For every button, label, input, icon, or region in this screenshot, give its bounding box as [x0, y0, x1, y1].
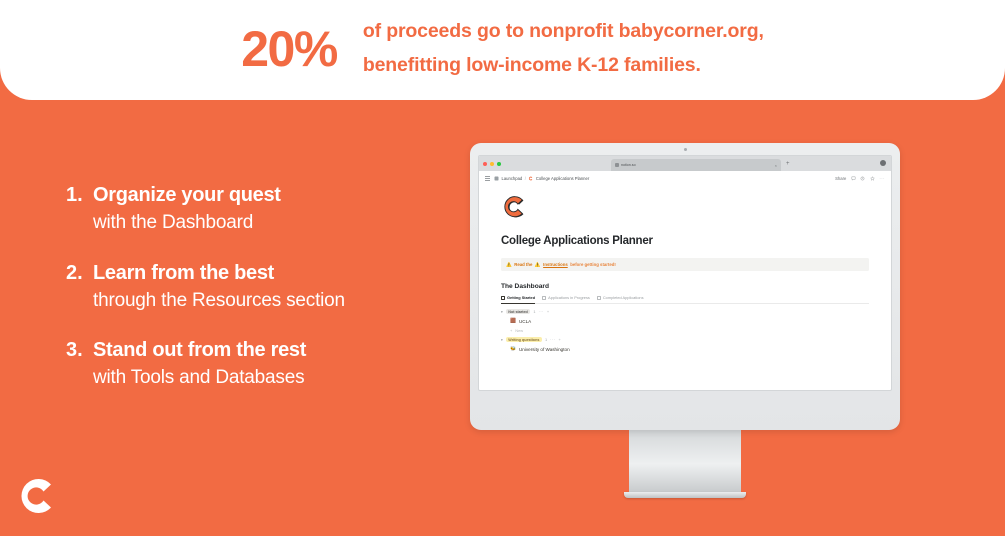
board-group-header[interactable]: ▾ Writing questions 1 ··· + [501, 337, 869, 342]
new-row-label: New [515, 328, 523, 333]
tab-label: Completed Applications [603, 295, 644, 300]
tab-applications-in-progress[interactable]: Applications in Progress [542, 295, 590, 300]
row-emoji-icon: 🐝 [510, 347, 516, 352]
crimson-c-logo-icon [13, 474, 57, 518]
list-item-subtitle: with Tools and Databases [93, 365, 306, 391]
browser-tab-bar: notion.so × + [479, 156, 891, 171]
tab-favicon-icon [615, 163, 619, 167]
board-group-header[interactable]: ▾ Not started 1 ··· + [501, 309, 869, 314]
list-item-subtitle: with the Dashboard [93, 210, 281, 236]
feature-list: 1. Organize your quest with the Dashboar… [66, 182, 456, 415]
page-cover-c-logo-icon [501, 194, 527, 220]
monitor-stand [629, 430, 741, 492]
group-count: 1 [545, 337, 547, 342]
monitor-frame: notion.so × + Launchpad / College Applic… [470, 143, 900, 430]
plus-icon: + [510, 328, 512, 333]
webcam-icon [684, 148, 687, 151]
imac-mockup: notion.so × + Launchpad / College Applic… [470, 143, 900, 498]
notion-topbar-actions: Share ··· [835, 176, 885, 181]
promo-banner-content: 20% of proceeds go to nonprofit babycorn… [241, 0, 763, 83]
list-item: 1. Organize your quest with the Dashboar… [66, 182, 456, 236]
page-c-icon [528, 176, 533, 181]
list-item: 2. Learn from the best through the Resou… [66, 260, 456, 314]
table-view-icon [542, 296, 546, 300]
group-status-badge: Not started [506, 309, 531, 314]
breadcrumb: Launchpad / College Applications Planner [494, 176, 589, 181]
list-item-title: Learn from the best [93, 260, 345, 287]
browser-tab[interactable]: notion.so × [611, 159, 781, 171]
close-window-icon[interactable] [483, 162, 487, 166]
new-tab-button[interactable]: + [786, 161, 790, 167]
breadcrumb-separator: / [525, 176, 526, 181]
group-more-icon[interactable]: ··· [539, 309, 544, 314]
list-item-number: 3. [66, 337, 93, 391]
tab-title: notion.so [621, 163, 636, 167]
section-title: The Dashboard [501, 283, 869, 290]
warning-icon: ⚠️ [506, 262, 512, 268]
notion-page: College Applications Planner ⚠️ Read the… [479, 186, 891, 354]
board-group: ▾ Writing questions 1 ··· + 🐝 University… [501, 337, 869, 354]
list-item-title: Organize your quest [93, 182, 281, 209]
list-item-number: 1. [66, 182, 93, 236]
list-item-subtitle: through the Resources section [93, 288, 345, 314]
board-group: ▾ Not started 1 ··· + 🟫 UCLA + New [501, 309, 869, 334]
group-add-icon[interactable]: + [559, 337, 561, 342]
promo-text-line-2: benefitting low-income K-12 families. [363, 49, 764, 83]
tab-completed-applications[interactable]: Completed Applications [597, 295, 644, 300]
tab-label: Applications in Progress [548, 295, 590, 300]
tab-getting-started[interactable]: Getting Started [501, 295, 535, 300]
row-emoji-icon: 🟫 [510, 319, 516, 324]
database-tabs: Getting Started Applications in Progress… [501, 295, 869, 304]
notion-topbar: Launchpad / College Applications Planner… [479, 171, 891, 186]
list-item-number: 2. [66, 260, 93, 314]
workspace-icon [494, 176, 499, 181]
list-item-title: Stand out from the rest [93, 337, 306, 364]
new-row-button[interactable]: + New [501, 326, 869, 334]
group-status-badge: Writing questions [506, 337, 542, 342]
list-item[interactable]: 🐝 University of Washington [501, 345, 869, 354]
breadcrumb-workspace[interactable]: Launchpad [502, 176, 523, 181]
promo-percent: 20% [241, 24, 337, 74]
promo-text: of proceeds go to nonprofit babycorner.o… [363, 15, 764, 82]
maximize-window-icon[interactable] [497, 162, 501, 166]
list-item: 3. Stand out from the rest with Tools an… [66, 337, 456, 391]
instructions-callout[interactable]: ⚠️ Read the ⚠️ Instructions before getti… [501, 258, 869, 271]
monitor-foot [624, 492, 746, 498]
monitor-chin [478, 391, 892, 429]
profile-avatar[interactable] [880, 160, 886, 166]
favorite-star-icon[interactable] [870, 176, 875, 181]
callout-text-before: Read the [514, 262, 532, 267]
close-tab-icon[interactable]: × [775, 163, 777, 168]
list-item-body: Learn from the best through the Resource… [93, 260, 345, 314]
breadcrumb-page[interactable]: College Applications Planner [536, 176, 589, 181]
warning-icon-inline: ⚠️ [535, 262, 541, 268]
table-view-icon [597, 296, 601, 300]
more-options-icon[interactable]: ··· [879, 176, 885, 181]
sidebar-toggle-icon[interactable] [485, 176, 490, 181]
minimize-window-icon[interactable] [490, 162, 494, 166]
window-controls[interactable] [483, 162, 501, 166]
list-item-body: Stand out from the rest with Tools and D… [93, 337, 306, 391]
row-label: UCLA [519, 319, 531, 324]
promo-banner: 20% of proceeds go to nonprofit babycorn… [0, 0, 1005, 100]
list-item-body: Organize your quest with the Dashboard [93, 182, 281, 236]
list-item[interactable]: 🟫 UCLA [501, 317, 869, 326]
promo-text-line-1: of proceeds go to nonprofit babycorner.o… [363, 15, 764, 49]
instructions-link[interactable]: Instructions [543, 262, 568, 267]
share-button[interactable]: Share [835, 176, 846, 181]
table-view-icon [501, 296, 505, 300]
group-more-icon[interactable]: ··· [550, 337, 555, 342]
group-count: 1 [533, 309, 535, 314]
page-title: College Applications Planner [501, 235, 869, 247]
screen: notion.so × + Launchpad / College Applic… [478, 155, 892, 391]
group-add-icon[interactable]: + [547, 309, 549, 314]
callout-text-after: before getting started! [570, 262, 616, 267]
chevron-down-icon[interactable]: ▾ [501, 338, 503, 342]
row-label: University of Washington [519, 347, 570, 352]
comment-icon[interactable] [851, 176, 856, 181]
chevron-down-icon[interactable]: ▾ [501, 310, 503, 314]
updates-clock-icon[interactable] [860, 176, 865, 181]
tab-label: Getting Started [507, 295, 535, 300]
